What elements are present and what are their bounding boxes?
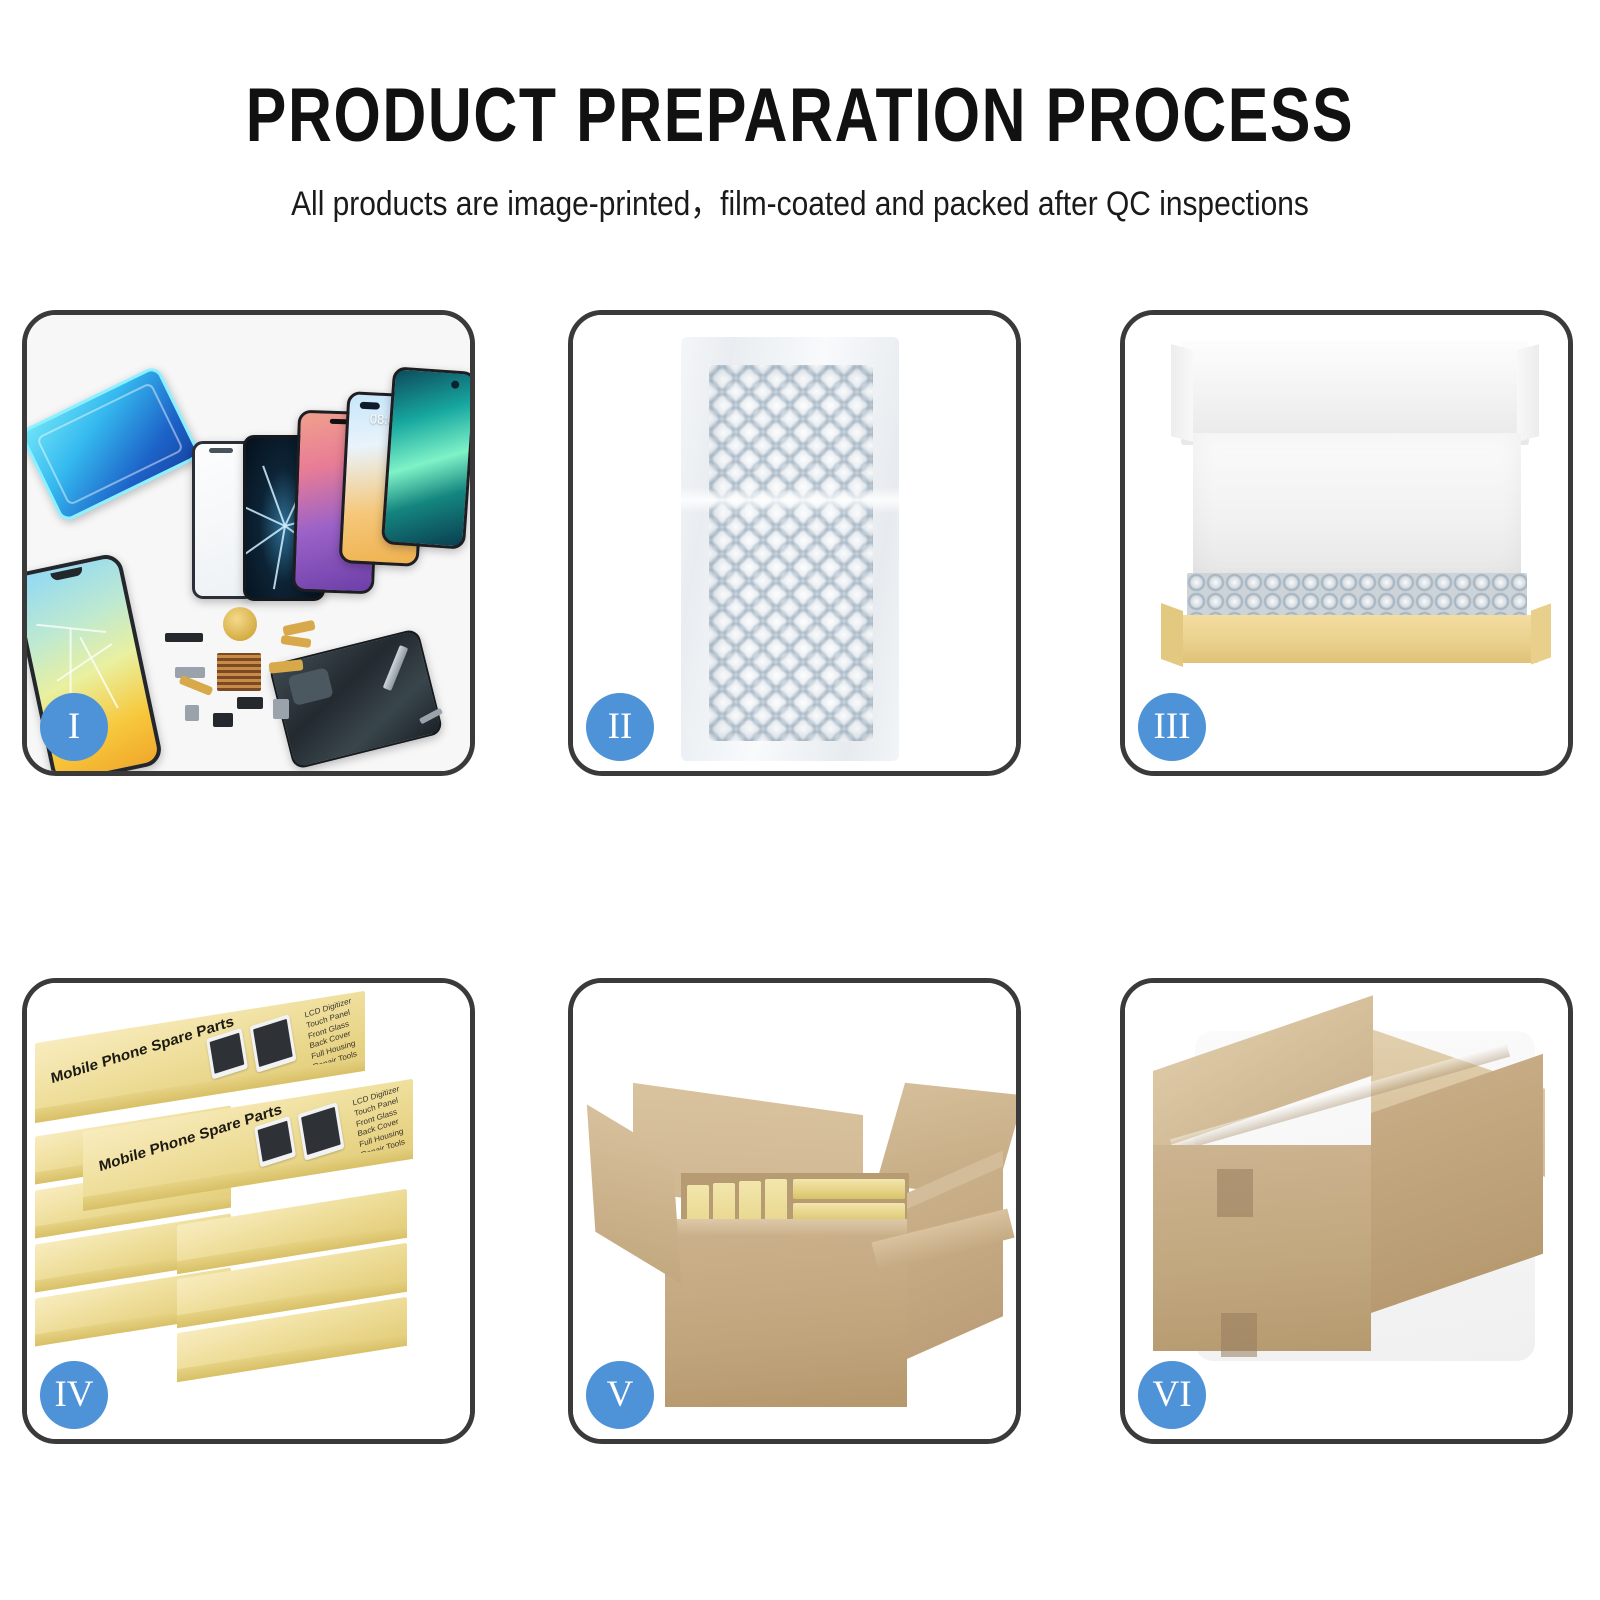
packed-retail-box xyxy=(793,1179,905,1199)
box-phone-image-b1 xyxy=(249,1014,296,1073)
camera-module-part xyxy=(213,713,233,727)
sim-tray-part xyxy=(185,705,199,721)
step-badge-5: V xyxy=(586,1361,654,1429)
page-subtitle: All products are image-printed，film-coat… xyxy=(96,154,1504,225)
wireless-coil-part xyxy=(223,607,257,641)
speaker-part xyxy=(237,697,263,709)
ic-chip-part xyxy=(217,653,261,691)
plastic-bag xyxy=(681,337,899,761)
step-panel-5: V xyxy=(568,978,1021,1444)
back-housing-part xyxy=(268,628,444,770)
step-badge-1: I xyxy=(40,693,108,761)
carton-side-front xyxy=(665,1235,907,1407)
carton-tape-upper xyxy=(1217,1169,1253,1217)
box-lid xyxy=(1181,341,1529,445)
step-panel-1: 08:08 xyxy=(22,310,475,776)
flex-cable-part-a xyxy=(282,620,315,636)
step-badge-4: IV xyxy=(40,1361,108,1429)
box-phone-image-b2 xyxy=(297,1102,344,1161)
step-panel-2: II xyxy=(568,310,1021,776)
flex-cable-part-b xyxy=(281,635,312,648)
plastic-sheen xyxy=(681,487,899,513)
box-base xyxy=(1175,615,1539,663)
vibrator-part xyxy=(273,699,289,719)
step-panel-6: VI xyxy=(1120,978,1573,1444)
foam-insert xyxy=(1193,433,1521,581)
flex-cable-part-c xyxy=(179,675,214,696)
green-phone-part xyxy=(381,366,470,549)
page-title: PRODUCT PREPARATION PROCESS xyxy=(160,0,1440,154)
step-badge-2: II xyxy=(586,693,654,761)
carton-tape-lower xyxy=(1221,1313,1257,1357)
step-panel-3: III xyxy=(1120,310,1573,776)
step-panel-4: Mobile Phone Spare Parts LCD Digitizer T… xyxy=(22,978,475,1444)
step-badge-6: VI xyxy=(1138,1361,1206,1429)
bubble-wrap-texture xyxy=(709,365,873,741)
process-step-grid: 08:08 xyxy=(22,310,1578,1450)
earpiece-mesh-part xyxy=(165,633,203,642)
connector-part-a xyxy=(175,667,205,678)
adhesive-frame-part xyxy=(27,364,202,523)
bubble-wrapped-item xyxy=(1187,573,1527,621)
page-header: PRODUCT PREPARATION PROCESS All products… xyxy=(0,0,1600,225)
carton-face-front xyxy=(1153,1145,1371,1351)
step-badge-3: III xyxy=(1138,693,1206,761)
